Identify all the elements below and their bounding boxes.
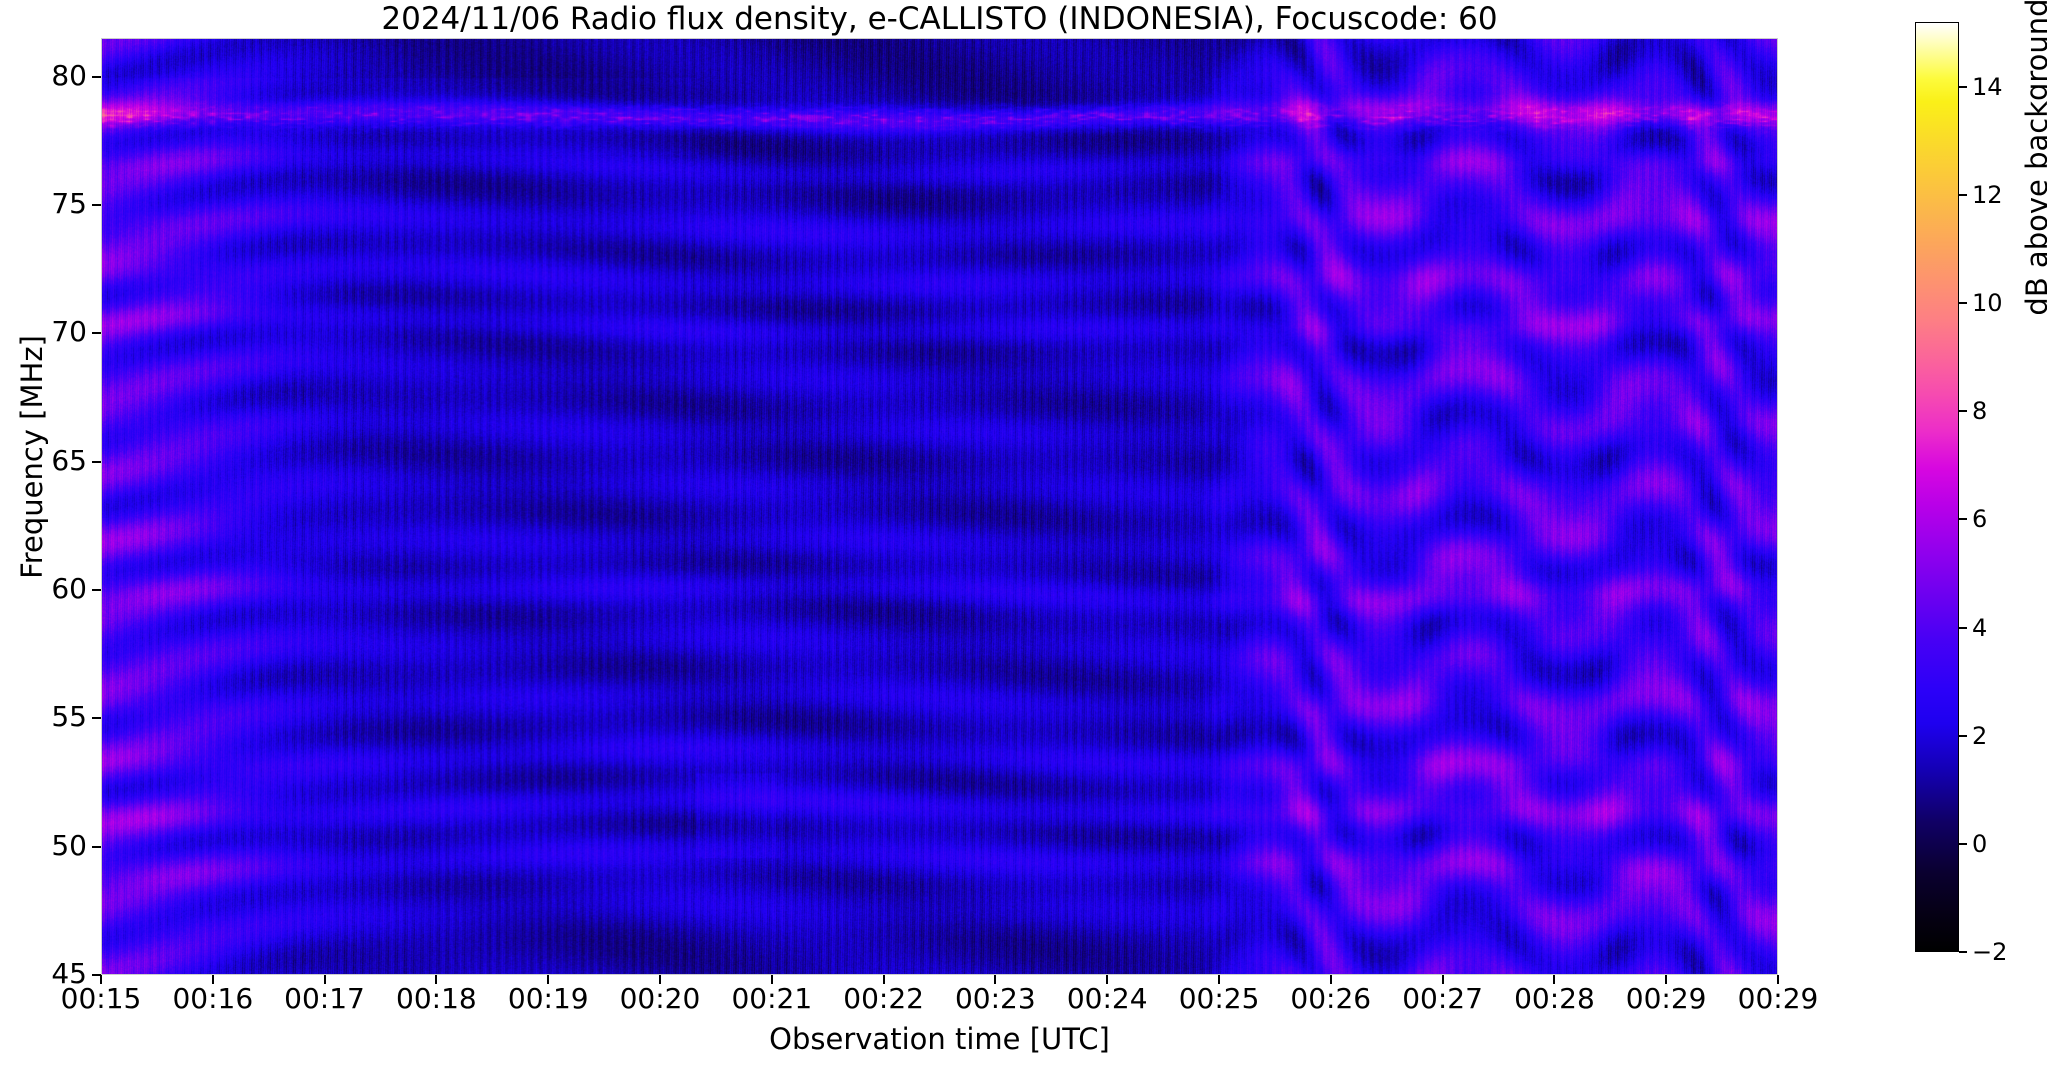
colorbar-tick xyxy=(1959,843,1967,845)
colorbar-tick-label: 0 xyxy=(1972,830,1987,858)
x-axis-tick-label: 00:19 xyxy=(508,982,589,1015)
y-axis-tick-label: 55 xyxy=(51,700,87,733)
x-axis-tick-label: 00:16 xyxy=(172,982,253,1015)
y-axis-tick xyxy=(92,76,101,78)
page-title: 2024/11/06 Radio flux density, e-CALLIST… xyxy=(101,2,1778,36)
colorbar-tick-label: 10 xyxy=(1972,289,2003,317)
spectrogram-image xyxy=(102,39,1777,974)
spectrogram-axes[interactable] xyxy=(101,38,1778,975)
colorbar-tick-label: 4 xyxy=(1972,614,1987,642)
colorbar-gradient xyxy=(1915,22,1959,952)
y-axis-tick xyxy=(92,589,101,591)
y-axis-tick-label: 65 xyxy=(51,444,87,477)
x-axis-tick-label: 00:15 xyxy=(61,982,142,1015)
y-axis-tick-label: 75 xyxy=(51,187,87,220)
colorbar-tick xyxy=(1959,951,1967,953)
y-axis-tick xyxy=(92,204,101,206)
colorbar-tick-label: 14 xyxy=(1972,73,2003,101)
colorbar[interactable]: −202468101214 xyxy=(1915,22,1959,952)
x-axis-tick-label: 00:29 xyxy=(1738,982,1819,1015)
x-axis-tick-label: 00:26 xyxy=(1290,982,1371,1015)
y-axis-label: Frequency [MHz] xyxy=(15,197,49,717)
y-axis-tick-label: 80 xyxy=(51,59,87,92)
colorbar-tick-label: 6 xyxy=(1972,505,1987,533)
colorbar-tick xyxy=(1959,735,1967,737)
y-axis-tick-label: 60 xyxy=(51,572,87,605)
x-axis-tick-label: 00:25 xyxy=(1179,982,1260,1015)
y-axis-tick xyxy=(92,717,101,719)
colorbar-tick xyxy=(1959,86,1967,88)
x-axis-tick-label: 00:21 xyxy=(731,982,812,1015)
colorbar-label: dB above background xyxy=(2020,0,2047,507)
colorbar-tick xyxy=(1959,518,1967,520)
y-axis-tick xyxy=(92,461,101,463)
x-axis-tick-label: 00:28 xyxy=(1514,982,1595,1015)
x-axis-tick-label: 00:17 xyxy=(284,982,365,1015)
colorbar-tick-label: −2 xyxy=(1972,938,2007,966)
colorbar-tick-label: 8 xyxy=(1972,397,1987,425)
x-axis-tick-label: 00:29 xyxy=(1626,982,1707,1015)
colorbar-tick-label: 2 xyxy=(1972,722,1987,750)
x-axis-tick-label: 00:20 xyxy=(620,982,701,1015)
x-axis-tick-label: 00:27 xyxy=(1402,982,1483,1015)
x-axis-tick-label: 00:18 xyxy=(396,982,477,1015)
colorbar-tick xyxy=(1959,410,1967,412)
x-axis-label: Observation time [UTC] xyxy=(101,1022,1778,1056)
colorbar-tick xyxy=(1959,627,1967,629)
y-axis-tick xyxy=(92,846,101,848)
colorbar-tick xyxy=(1959,194,1967,196)
figure-canvas: 2024/11/06 Radio flux density, e-CALLIST… xyxy=(0,0,2047,1067)
colorbar-tick-label: 12 xyxy=(1972,181,2003,209)
x-axis-tick-label: 00:23 xyxy=(955,982,1036,1015)
y-axis-tick-label: 70 xyxy=(51,315,87,348)
y-axis-tick-label: 50 xyxy=(51,829,87,862)
x-axis-tick-label: 00:24 xyxy=(1067,982,1148,1015)
y-axis-tick xyxy=(92,332,101,334)
x-axis-tick-label: 00:22 xyxy=(843,982,924,1015)
colorbar-tick xyxy=(1959,302,1967,304)
